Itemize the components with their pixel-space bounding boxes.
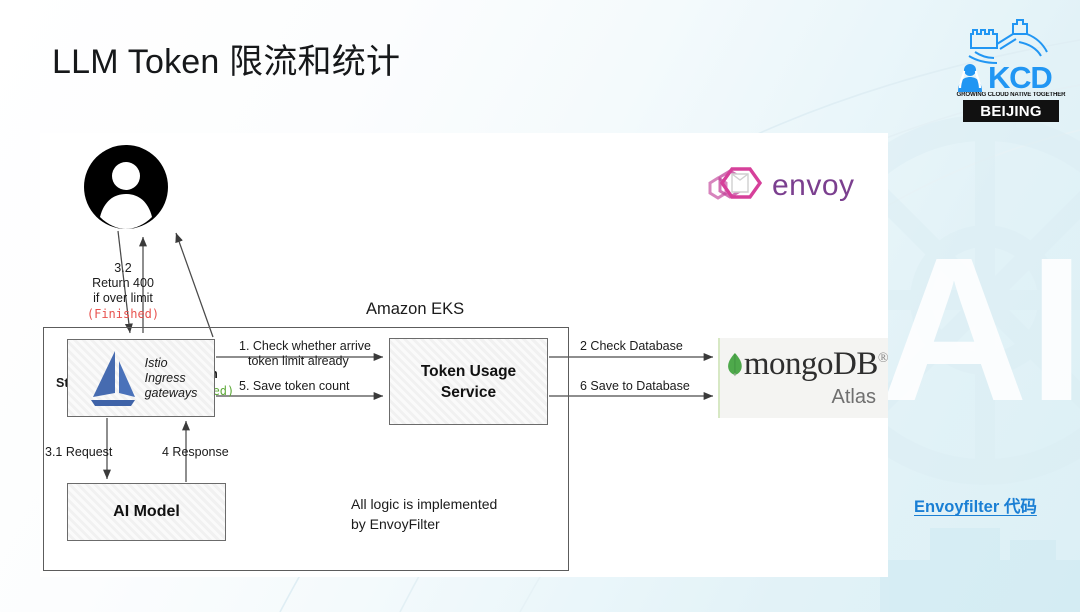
node-ai-model[interactable]: AI Model: [67, 483, 226, 541]
edge-label-check-limit-line1: 1. Check whether arrive: [239, 339, 371, 354]
kcd-tagline: GROWING CLOUD NATIVE TOGETHER: [955, 92, 1067, 98]
edge-label-request-31: 3.1 Request: [45, 445, 112, 460]
slide-canvas: AI LLM Token 限流和统计: [0, 0, 1080, 612]
node-mongodb-atlas[interactable]: mongoDB® Atlas: [718, 338, 888, 418]
envoyfilter-note-line2: by EnvoyFilter: [351, 514, 497, 534]
kcd-wordmark: KCD: [988, 62, 1052, 93]
istio-label-line2: Ingress: [145, 371, 198, 386]
kcd-city-badge: BEIJING: [963, 100, 1059, 122]
envoyfilter-code-link[interactable]: Envoyfilter 代码: [914, 493, 1037, 517]
ai-model-label: AI Model: [113, 503, 180, 521]
edge-label-check-database: 2 Check Database: [580, 339, 683, 354]
envoy-hexagon-icon: [708, 163, 766, 209]
edge-label-response-4: 4 Response: [162, 445, 229, 460]
node-token-usage-service[interactable]: Token Usage Service: [389, 338, 548, 425]
kcd-beijing-logo: KCD GROWING CLOUD NATIVE TOGETHER BEIJIN…: [955, 18, 1067, 122]
istio-logo-icon: [85, 347, 141, 409]
token-usage-service-line2: Service: [421, 382, 516, 403]
istio-label-line3: gateways: [145, 386, 198, 401]
token-usage-service-line1: Token Usage: [421, 361, 516, 382]
istio-label-line1: Istio: [145, 356, 198, 371]
envoyfilter-note: All logic is implemented by EnvoyFilter: [351, 494, 497, 534]
svg-text:AI: AI: [880, 215, 1080, 444]
node-istio-ingress-gateways[interactable]: Istio Ingress gateways: [67, 339, 215, 417]
edge-state-return400: (Finished): [78, 307, 168, 322]
envoyfilter-note-line1: All logic is implemented: [351, 494, 497, 514]
mongodb-atlas-label: Atlas: [720, 386, 888, 409]
page-title: LLM Token 限流和统计: [52, 34, 400, 83]
user-avatar-icon: [82, 143, 170, 231]
edge-label-save-token-count: 5. Save token count: [239, 379, 350, 394]
edge-label-return400-line2: if over limit: [78, 291, 168, 306]
edge-label-check-limit-line2: token limit already: [248, 354, 349, 369]
edge-label-return400-number: 3.2: [83, 261, 163, 276]
edge-label-return400-line1: Return 400: [78, 276, 168, 291]
diagram-panel: Start 7 Return (Finished) 3.2 Return 400…: [40, 133, 888, 577]
mongodb-wordmark: mongoDB®: [744, 346, 888, 383]
istio-label: Istio Ingress gateways: [145, 356, 198, 401]
edge-label-save-to-database: 6 Save to Database: [580, 379, 690, 394]
people-icon: [955, 62, 985, 92]
envoy-logo: envoy: [708, 158, 898, 214]
envoy-wordmark: envoy: [772, 169, 855, 203]
group-title-amazon-eks: Amazon EKS: [366, 300, 464, 319]
mongodb-leaf-icon: [726, 341, 744, 387]
great-wall-icon: [967, 18, 1055, 66]
